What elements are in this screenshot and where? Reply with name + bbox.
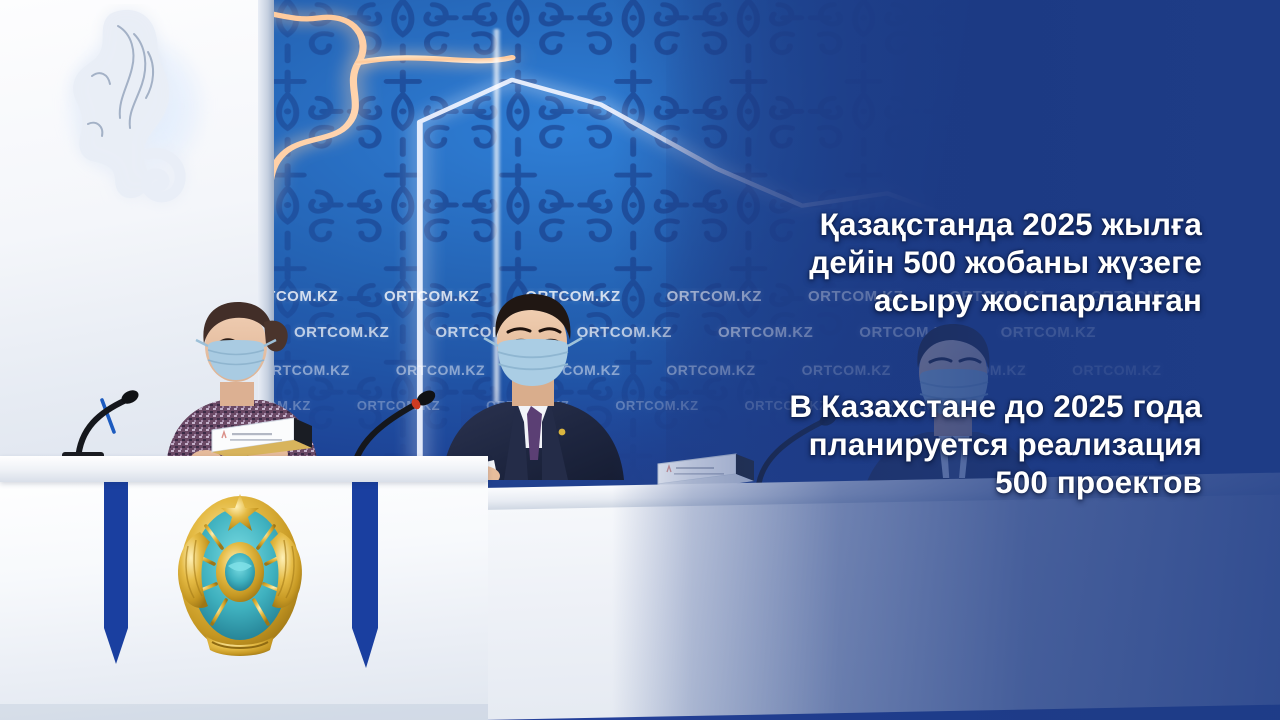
podium-stripe-left [104, 468, 128, 664]
broadcast-frame: ORTCOM.KZORTCOM.KZORTCOM.KZORTCOM.KZORTC… [0, 0, 1280, 720]
desk-surface [0, 456, 488, 482]
caption-kk-line-2: дейін 500 жобаны жүзеге [642, 244, 1202, 282]
caption-russian: В Казахстане до 2025 года планируется ре… [642, 388, 1202, 501]
caption-ru-line-1: В Казахстане до 2025 года [642, 388, 1202, 426]
caption-ru-line-3: 500 проектов [642, 464, 1202, 502]
caption-kk-line-3: асыру жоспарланған [642, 282, 1202, 320]
caption-kazakh: Қазақстанда 2025 жылға дейін 500 жобаны … [642, 206, 1202, 319]
tulpar-relief-icon [48, 4, 228, 214]
kazakhstan-state-emblem-icon [166, 488, 314, 660]
caption-kk-line-1: Қазақстанда 2025 жылға [642, 206, 1202, 244]
face-mask-icon [484, 338, 582, 386]
podium-stripe-right [352, 468, 378, 668]
desk-right-section [480, 490, 1280, 720]
caption-ru-line-2: планируется реализация [642, 426, 1202, 464]
